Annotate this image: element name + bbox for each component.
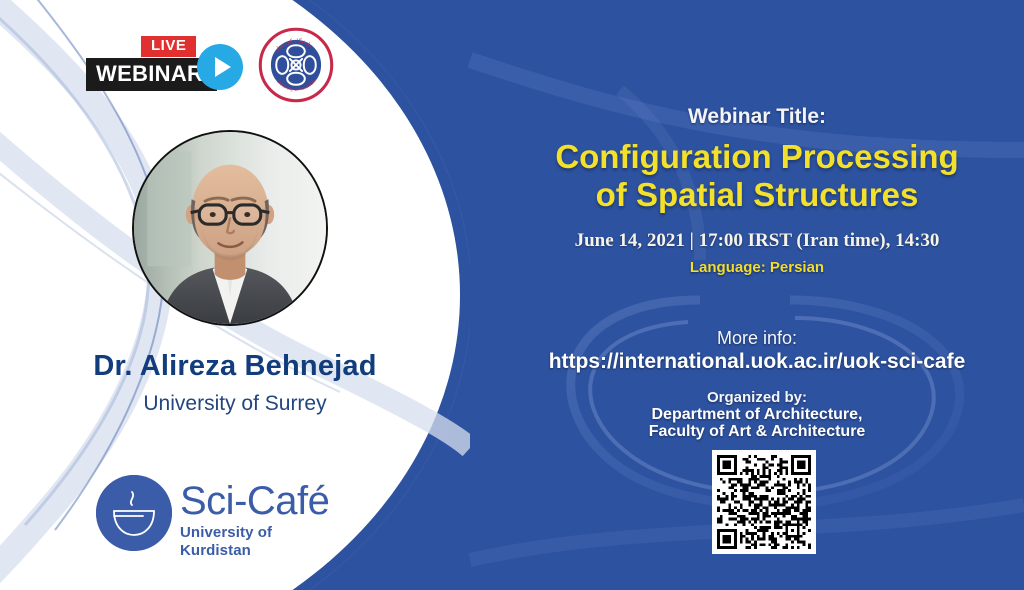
qr-code-icon[interactable] [712, 450, 816, 554]
university-of-kurdistan-seal-icon: دانشگاه کردستان University of Kurdistan [258, 27, 334, 103]
date-time-line: June 14, 2021 | 17:00 IRST (Iran time), … [490, 230, 1024, 252]
more-info-url[interactable]: https://international.uok.ac.ir/uok-sci-… [490, 350, 1024, 374]
organizer-line-1: Department of Architecture, [490, 406, 1024, 424]
sci-cafe-title: Sci-Café [180, 479, 346, 523]
main-title-line-1: Configuration Processing [490, 138, 1024, 176]
sci-cafe-wordmark: Sci-Café University of Kurdistan [180, 479, 346, 560]
play-icon [197, 44, 243, 90]
main-title-line-2: of Spatial Structures [490, 176, 1024, 214]
more-info-label: More info: [490, 328, 1024, 349]
speaker-name: Dr. Alireza Behnejad [0, 350, 470, 383]
speaker-portrait [132, 130, 328, 326]
main-title: Configuration Processing of Spatial Stru… [490, 138, 1024, 214]
sci-cafe-logo: Sci-Café University of Kurdistan [96, 473, 346, 555]
speaker-affiliation: University of Surrey [0, 392, 470, 416]
webinar-title-label: Webinar Title: [490, 105, 1024, 129]
coffee-cup-icon [96, 475, 172, 551]
webinar-poster: LIVE WEBINAR دانشگاه کردستان [0, 0, 1024, 590]
sci-cafe-subtitle: University of Kurdistan [180, 524, 346, 560]
language-line: Language: Persian [490, 259, 1024, 276]
organized-by-label: Organized by: [490, 389, 1024, 406]
live-webinar-badge: LIVE WEBINAR [86, 36, 236, 94]
live-label: LIVE [141, 36, 196, 57]
organizer-line-2: Faculty of Art & Architecture [490, 423, 1024, 441]
